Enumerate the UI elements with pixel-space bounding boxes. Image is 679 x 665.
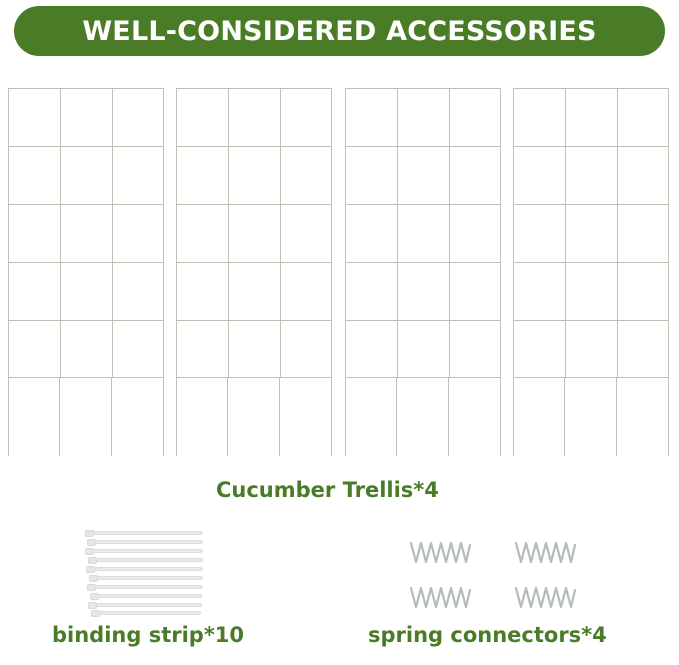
panel-grid (176, 88, 332, 378)
binding-strip (95, 540, 203, 544)
grid-line-vertical (449, 89, 450, 377)
binding-strip (98, 594, 202, 598)
binding-strip (97, 576, 203, 580)
spring-connector (410, 540, 472, 566)
grid-line-horizontal (346, 204, 500, 205)
grid-line-horizontal (177, 320, 331, 321)
panel-leg (331, 378, 332, 456)
grid-line-vertical (228, 89, 229, 377)
panel-grid (8, 88, 164, 378)
binding-strip (93, 549, 203, 553)
trellis-panel (8, 88, 164, 378)
spring-connector (515, 540, 577, 566)
panel-leg (8, 378, 9, 456)
grid-line-horizontal (346, 146, 500, 147)
spring-connector (410, 585, 472, 611)
grid-line-horizontal (346, 262, 500, 263)
panel-leg (176, 378, 177, 456)
grid-line-vertical (280, 89, 281, 377)
spring-connectors-label: spring connectors*4 (368, 623, 607, 647)
panel-leg (396, 378, 397, 456)
grid-line-vertical (617, 89, 618, 377)
trellis-label: Cucumber Trellis*4 (216, 478, 439, 502)
binding-strip (95, 585, 203, 589)
trellis-panel (176, 88, 332, 378)
grid-line-horizontal (9, 146, 163, 147)
panel-leg (227, 378, 228, 456)
binding-strips-image (85, 528, 205, 613)
banner-title: WELL-CONSIDERED ACCESSORIES (82, 16, 596, 47)
spring-connectors-image (405, 540, 585, 615)
panel-leg (163, 378, 164, 456)
binding-strip-label: binding strip*10 (52, 623, 244, 647)
panel-leg (345, 378, 346, 456)
panel-leg (59, 378, 60, 456)
grid-line-vertical (397, 89, 398, 377)
trellis-panels-image (0, 88, 679, 458)
grid-line-vertical (112, 89, 113, 377)
grid-line-vertical (565, 89, 566, 377)
trellis-panel (513, 88, 669, 378)
panel-leg (279, 378, 280, 456)
grid-line-horizontal (177, 146, 331, 147)
title-banner: WELL-CONSIDERED ACCESSORIES (14, 6, 665, 56)
panel-leg (564, 378, 565, 456)
grid-line-horizontal (177, 262, 331, 263)
grid-line-horizontal (514, 204, 668, 205)
panel-leg (111, 378, 112, 456)
panel-leg (500, 378, 501, 456)
grid-line-horizontal (346, 320, 500, 321)
binding-strip (99, 611, 201, 615)
grid-line-vertical (60, 89, 61, 377)
grid-line-horizontal (177, 204, 331, 205)
binding-strip (93, 531, 203, 535)
binding-strip (96, 558, 203, 562)
panel-grid (513, 88, 669, 378)
grid-line-horizontal (9, 320, 163, 321)
panel-leg (668, 378, 669, 456)
binding-strip (94, 567, 203, 571)
panel-leg (616, 378, 617, 456)
grid-line-horizontal (514, 262, 668, 263)
grid-line-horizontal (514, 146, 668, 147)
binding-strip (96, 603, 202, 607)
panel-leg (513, 378, 514, 456)
grid-line-horizontal (9, 204, 163, 205)
spring-connector (515, 585, 577, 611)
panel-grid (345, 88, 501, 378)
trellis-panel (345, 88, 501, 378)
panel-leg (448, 378, 449, 456)
grid-line-horizontal (9, 262, 163, 263)
grid-line-horizontal (514, 320, 668, 321)
